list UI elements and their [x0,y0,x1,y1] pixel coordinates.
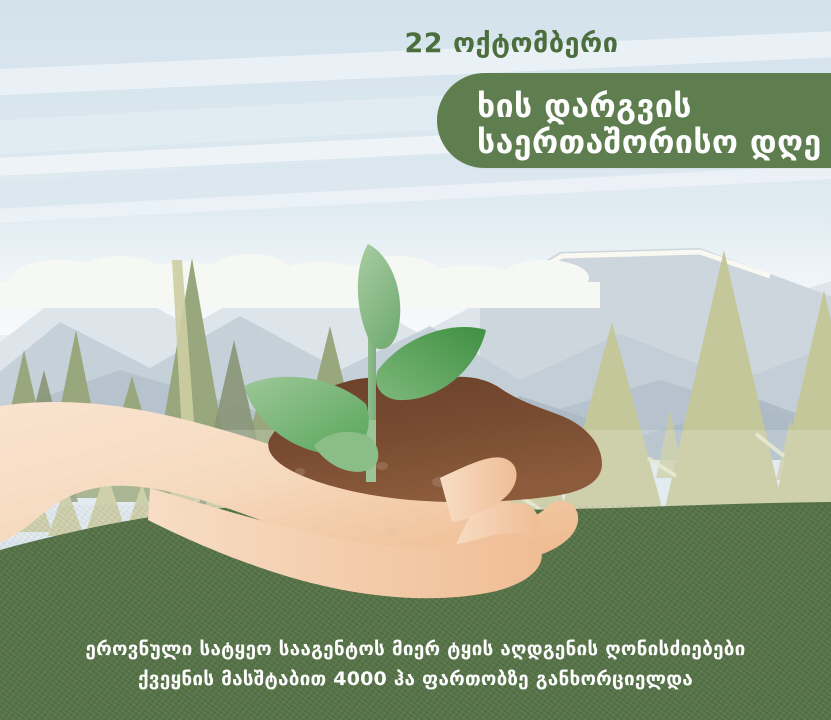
caption-block: ეროვნული სატყეო სააგენტოს მიერ ტყის აღდგ… [0,634,831,694]
caption-line-2: ქვეყნის მასშტაბით 4000 ჰა ფართობზე განხო… [0,664,831,694]
badge-line-1: ხის დარგვის [477,87,692,125]
date-text: 22 ოქტომბერი [405,28,619,59]
hand-with-seedling-illustration [0,220,640,620]
poster-canvas: 22 ოქტომბერი ხის დარგვის საერთაშორისო დღ… [0,0,831,720]
leaf-top [358,244,400,349]
title-badge: ხის დარგვის საერთაშორისო დღე [437,73,831,168]
caption-line-1: ეროვნული სატყეო სააგენტოს მიერ ტყის აღდგ… [0,634,831,664]
date-label: 22 ოქტომბერი [0,28,831,59]
badge-line-2: საერთაშორისო დღე [477,123,822,161]
